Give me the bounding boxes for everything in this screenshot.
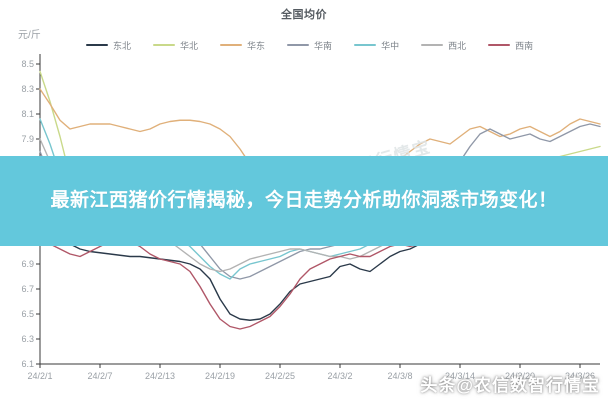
legend-label: 西南 [515,39,533,52]
x-axis-tick-label: 24/2/1 [14,371,66,381]
legend-item-华中[interactable]: 华中 [354,39,399,52]
chart-title: 全国均价 [0,6,608,22]
legend-item-西南[interactable]: 西南 [488,39,533,52]
legend-label: 华中 [381,39,399,52]
legend-swatch-icon [421,44,443,46]
y-axis-tick-label: 6.5 [8,309,34,319]
legend-swatch-icon [354,44,376,46]
y-axis-tick-label: 6.7 [8,284,34,294]
legend-item-西北[interactable]: 西北 [421,39,466,52]
y-axis-tick-label: 6.9 [8,259,34,269]
x-axis-tick-label: 24/2/13 [134,371,186,381]
legend-label: 华北 [180,39,198,52]
y-axis-tick-label: 8.5 [8,59,34,69]
legend-swatch-icon [86,44,108,46]
x-axis-tick-label: 24/2/19 [194,371,246,381]
legend-swatch-icon [220,44,242,46]
legend-item-华北[interactable]: 华北 [153,39,198,52]
legend-swatch-icon [153,44,175,46]
legend-item-东北[interactable]: 东北 [86,39,131,52]
y-axis-unit-label: 元/斤 [18,26,41,41]
y-axis-tick-label: 6.1 [8,359,34,369]
y-axis-tick-label: 8.3 [8,84,34,94]
y-axis-tick-label: 8.1 [8,109,34,119]
legend-label: 华东 [247,39,265,52]
x-axis-tick-label: 24/2/7 [74,371,126,381]
legend-label: 华南 [314,39,332,52]
y-axis-tick-label: 7.9 [8,134,34,144]
chart-screenshot: 农信数智行情宝 农信数智行情宝 全国均价 元/斤 东北华北华东华南华中西北西南 … [0,0,608,400]
chart-legend: 东北华北华东华南华中西北西南 [86,38,586,52]
x-axis-tick-label: 24/3/8 [374,371,426,381]
corner-watermark: 头条@农信数智行情宝 [420,371,600,396]
legend-item-华东[interactable]: 华东 [220,39,265,52]
legend-label: 西北 [448,39,466,52]
legend-swatch-icon [287,44,309,46]
legend-swatch-icon [488,44,510,46]
headline-text: 最新江西猪价行情揭秘，今日走势分析助你洞悉市场变化！ [35,186,573,216]
x-axis-tick-label: 24/2/25 [254,371,306,381]
legend-item-华南[interactable]: 华南 [287,39,332,52]
headline-banner: 最新江西猪价行情揭秘，今日走势分析助你洞悉市场变化！ [0,156,608,246]
x-axis-tick-label: 24/3/2 [314,371,366,381]
legend-label: 东北 [113,39,131,52]
y-axis-tick-label: 6.3 [8,334,34,344]
